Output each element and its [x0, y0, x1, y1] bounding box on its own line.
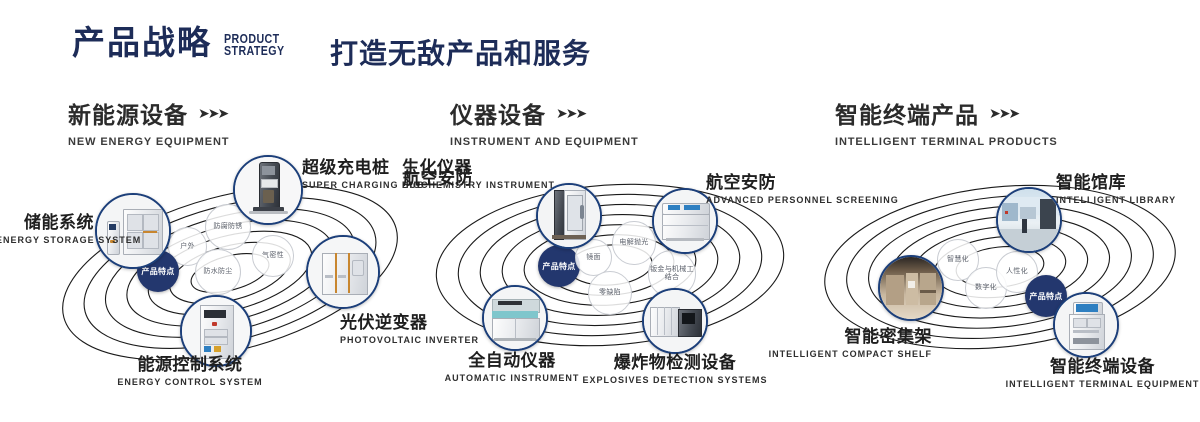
section-title-new-energy: 新能源设备 ➤➤➤ NEW ENERGY EQUIPMENT: [68, 96, 229, 148]
section-title-cn: 新能源设备: [68, 96, 188, 130]
node-photovoltaic-inverter[interactable]: [306, 235, 380, 309]
feature-bubble: 零缺陷: [588, 271, 632, 315]
node-label-explosives-detection-system: 爆炸物检测设备 EXPLOSIVES DETECTION SYSTEMS: [580, 353, 770, 386]
node-label-energy-control-system: 能源控制系统 ENERGY CONTROL SYSTEM: [100, 355, 280, 388]
node-label-intelligent-terminal-equipment: 智能终端设备 INTELLIGENT TERMINAL EQUIPMENT: [1005, 357, 1200, 390]
node-label-energy-storage-system: 储能系统 ENERGY STORAGE SYSTEM: [0, 213, 94, 246]
page-title-en-line2: STRATEGY: [224, 45, 285, 57]
section-title-cn: 仪器设备: [450, 96, 546, 130]
page-subtitle: 打造无敌产品和服务: [330, 32, 591, 72]
node-automatic-instrument[interactable]: [482, 285, 548, 351]
diagram-cluster-intelligent-terminal: 智慧化 数字化 人性化 产品特点 智能馆库 INTELLIGENT LIBRAR…: [810, 155, 1200, 390]
chevron-right-icon: ➤➤➤: [989, 105, 1018, 122]
section-title-instrument: 仪器设备 ➤➤➤ INSTRUMENT AND EQUIPMENT: [450, 96, 639, 148]
node-biochemistry-instrument[interactable]: [536, 183, 602, 249]
diagram-cluster-instrument: 产品特点 镜面 电解抛光 钣金与机械工结合 零缺陷 生化仪器 BIOCHEMIS…: [420, 155, 800, 390]
node-label-intelligent-library: 智能馆库 INTELLIGENT LIBRARY: [1056, 173, 1200, 206]
feature-bubble: 防水防尘: [195, 249, 241, 295]
aside-label-aviation-security: 航空安防: [403, 169, 473, 189]
chevron-right-icon: ➤➤➤: [198, 105, 227, 122]
node-super-charging-hub[interactable]: [233, 155, 303, 225]
node-label-intelligent-compact-shelf: 智能密集架 INTELLIGENT COMPACT SHELF: [762, 327, 932, 360]
diagram-cluster-new-energy: 户外 防腐防锈 防水防尘 气密性 产品特点 储能系统 ENERGY STORAG…: [40, 155, 420, 390]
node-energy-storage-system[interactable]: [95, 193, 171, 269]
center-bubble-product-features: 产品特点: [538, 245, 580, 287]
chevron-right-icon: ➤➤➤: [556, 105, 585, 122]
section-title-en: NEW ENERGY EQUIPMENT: [68, 136, 229, 148]
feature-bubble: 电解抛光: [612, 221, 656, 265]
node-intelligent-compact-shelf[interactable]: [878, 255, 944, 321]
section-title-cn: 智能终端产品: [835, 96, 979, 130]
slide-canvas: 产品战略 PRODUCT STRATEGY 打造无敌产品和服务 新能源设备 ➤➤…: [0, 0, 1200, 422]
node-intelligent-terminal-equipment[interactable]: [1053, 292, 1119, 358]
page-title: 产品战略 PRODUCT STRATEGY: [72, 26, 298, 59]
section-title-intelligent-terminal: 智能终端产品 ➤➤➤ INTELLIGENT TERMINAL PRODUCTS: [835, 96, 1058, 148]
node-explosives-detection-system[interactable]: [642, 288, 708, 354]
section-title-en: INTELLIGENT TERMINAL PRODUCTS: [835, 136, 1058, 148]
section-title-en: INSTRUMENT AND EQUIPMENT: [450, 136, 639, 148]
page-title-cn: 产品战略: [72, 26, 212, 59]
node-intelligent-library[interactable]: [996, 187, 1062, 253]
page-title-en: PRODUCT STRATEGY: [224, 33, 285, 57]
feature-bubble: 气密性: [252, 235, 294, 277]
